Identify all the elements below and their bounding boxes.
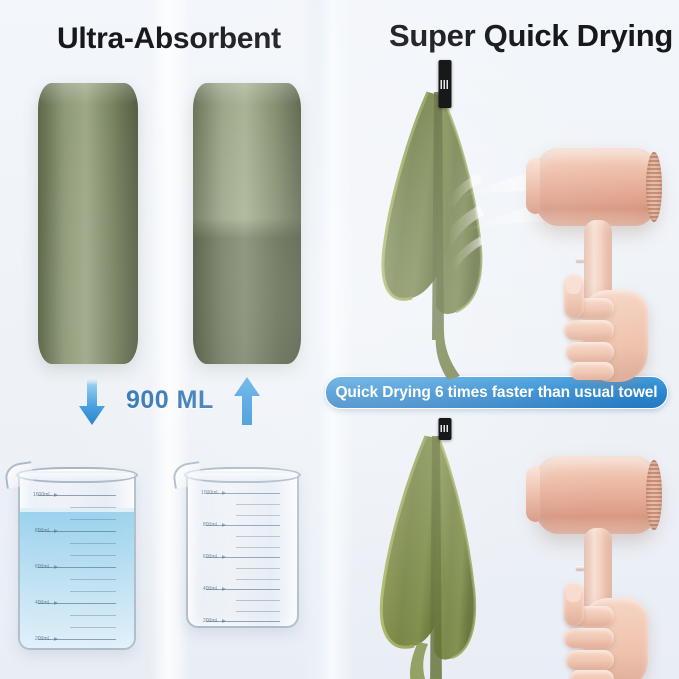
beaker-filled-grad-label: 200mL	[35, 636, 50, 642]
beaker-empty-spout	[171, 461, 202, 489]
dryer-barrel	[534, 456, 659, 534]
beaker-filled-spout	[3, 461, 34, 489]
towel-roll-dry-sheen	[38, 83, 138, 364]
towel-roll-wet-sheen	[193, 83, 301, 364]
hand-finger-pinky	[570, 670, 614, 679]
hair-dryer-icon-top	[528, 140, 679, 380]
page-title-right: Super Quick Drying	[389, 18, 673, 54]
page-title-left: Ultra-Absorbent	[57, 22, 281, 56]
towel-roll-wet	[193, 83, 301, 364]
beaker-empty-glass: 1000mL 800mL 600mL 400mL 200mL	[186, 471, 299, 628]
beaker-empty-grad-label: 800mL	[203, 522, 218, 528]
beaker-filled-glass: 1000mL 800mL 600mL 400mL 200mL	[18, 471, 136, 650]
towel-roll-dry	[38, 83, 138, 364]
beaker-filled-grad-label: 800mL	[35, 528, 50, 534]
towel-cloth-blown	[370, 90, 520, 390]
background-panel-divider	[300, 0, 354, 679]
hand-finger-pinky	[570, 362, 614, 380]
arrow-up-icon	[231, 376, 263, 426]
beaker-filled-grad-label: 600mL	[35, 564, 50, 570]
hand-thumb-nail	[566, 276, 581, 294]
hand-finger-ring	[566, 342, 614, 362]
hand-thumb-nail	[566, 584, 581, 602]
dryer-button-high[interactable]	[576, 258, 584, 262]
hand-finger-middle	[564, 320, 614, 340]
background-light-seam-left	[150, 0, 190, 679]
beaker-empty-grad-label: 1000mL	[201, 490, 219, 496]
beaker-filled-rim	[16, 467, 138, 483]
beaker-filled-graduations: 1000mL 800mL 600mL 400mL 200mL	[20, 473, 134, 648]
hang-tag-icon	[439, 418, 452, 440]
dryer-barrel	[534, 148, 659, 226]
hand-finger-ring	[566, 650, 614, 670]
dryer-grill	[646, 460, 662, 530]
hand-finger-middle	[564, 628, 614, 648]
dryer-button-high[interactable]	[576, 566, 584, 570]
towel-roll-wet-top	[193, 83, 301, 105]
beaker-filled: 1000mL 800mL 600mL 400mL 200mL	[18, 455, 136, 650]
beaker-empty-grad-label: 200mL	[203, 618, 218, 624]
beaker-empty-grad-label: 400mL	[203, 586, 218, 592]
beaker-filled-grad-label: 1000mL	[33, 492, 51, 498]
dryer-nozzle	[526, 158, 540, 214]
towel-roll-dry-top	[38, 83, 138, 105]
hanging-towel-blown	[370, 60, 520, 360]
arrow-down-icon	[76, 376, 108, 426]
hair-dryer-icon-bottom	[528, 448, 679, 679]
towel-cloth-dry	[370, 430, 520, 679]
infographic-canvas: Ultra-Absorbent Super Quick Drying	[0, 0, 679, 679]
hanging-towel-dry	[370, 418, 520, 679]
dryer-nozzle	[526, 466, 540, 522]
dryer-grill	[646, 152, 662, 222]
beaker-empty-graduations: 1000mL 800mL 600mL 400mL 200mL	[188, 473, 297, 626]
beaker-filled-grad-label: 400mL	[35, 600, 50, 606]
beaker-empty: 1000mL 800mL 600mL 400mL 200mL	[186, 455, 299, 628]
beaker-empty-grad-label: 600mL	[203, 554, 218, 560]
hang-tag-icon	[439, 60, 452, 108]
capacity-label: 900 ML	[126, 386, 214, 415]
